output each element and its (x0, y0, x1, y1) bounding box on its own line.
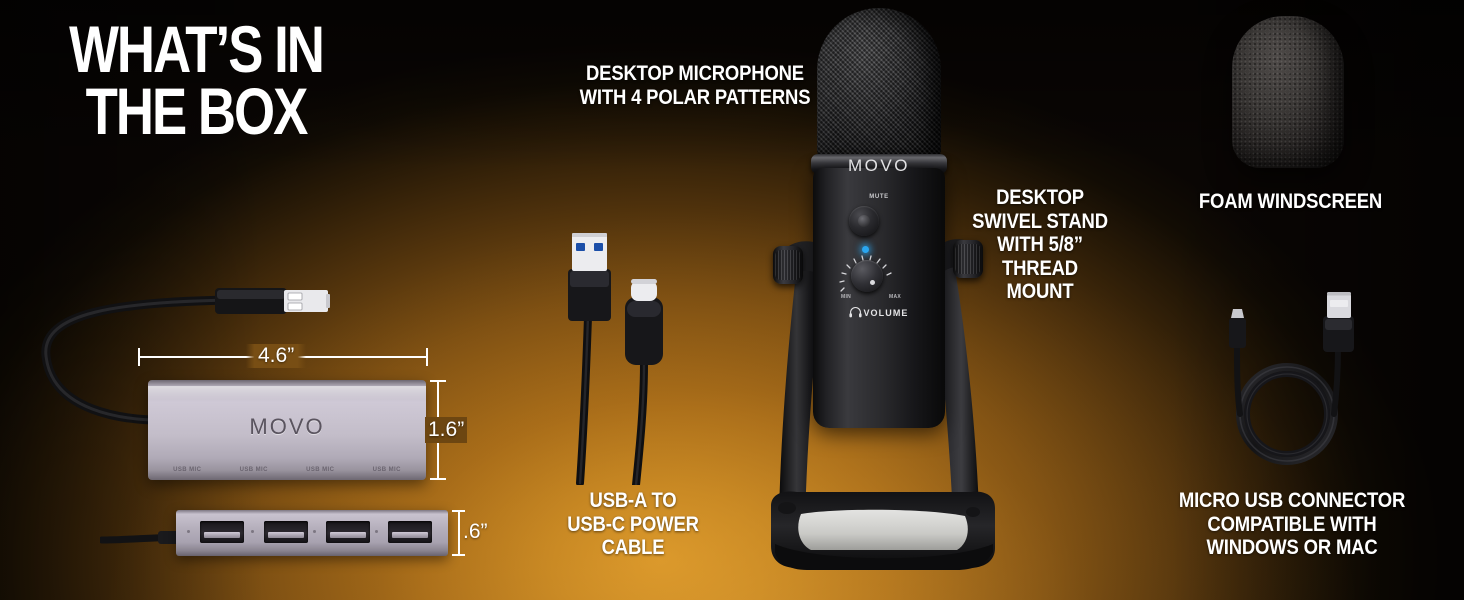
dim-height-cap-bottom (430, 478, 446, 480)
infographic-canvas: WHAT’S IN THE BOX 4.6” MOVO USB MIC USB … (0, 0, 1464, 600)
dim-width-cap-left (138, 348, 140, 366)
dim-depth-value: .6” (463, 520, 488, 544)
volume-label: VOLUME (827, 308, 945, 318)
label-foam-windscreen: FOAM WINDSCREEN (1174, 190, 1407, 214)
dim-height-value: 1.6” (425, 417, 467, 443)
hub-port-label: USB MIC (306, 467, 334, 473)
label-swivel-stand: DESKTOP SWIVEL STAND WITH 5/8” THREAD MO… (965, 186, 1115, 304)
dim-width-value: 4.6” (246, 344, 306, 368)
micro-usb-cable-graphic (1195, 290, 1385, 475)
usb-port[interactable] (326, 521, 370, 543)
stand-tension-knob-left[interactable] (773, 246, 803, 284)
mute-label: MUTE (813, 194, 945, 200)
port-led-dot (187, 530, 190, 533)
dim-width-cap-right (426, 348, 428, 366)
volume-min-label: MIN (841, 294, 851, 300)
hub-port-label: USB MIC (373, 467, 401, 473)
microphone-grille (817, 8, 941, 160)
dim-depth-cap-bottom (452, 554, 465, 556)
label-desktop-microphone: DESKTOP MICROPHONE WITH 4 POLAR PATTERNS (576, 62, 814, 109)
port-led-dot (313, 530, 316, 533)
microphone-body: MOVO MUTE MIN MA (813, 168, 945, 428)
usb-hub-front-edge (176, 510, 448, 556)
hub-port-label-row: USB MIC USB MIC USB MIC USB MIC (154, 467, 420, 473)
page-title: WHAT’S IN THE BOX (36, 18, 356, 142)
port-led-dot (375, 530, 378, 533)
title-line-1: WHAT’S IN (36, 18, 356, 80)
microphone-brand-logo: MOVO (813, 156, 945, 176)
hub-brand-logo: MOVO (148, 414, 426, 440)
hub-port-label: USB MIC (173, 467, 201, 473)
usb-hub-product: 4.6” MOVO USB MIC USB MIC USB MIC USB MI… (0, 260, 500, 590)
usb-port[interactable] (200, 521, 244, 543)
volume-knob[interactable] (851, 260, 883, 292)
usb-port[interactable] (388, 521, 432, 543)
dim-depth-bar (458, 510, 460, 556)
hub-port-label: USB MIC (240, 467, 268, 473)
hub-edge-cable (100, 524, 186, 550)
title-line-2: THE BOX (36, 80, 356, 142)
mute-button[interactable] (849, 206, 879, 236)
usb-hub-body: MOVO USB MIC USB MIC USB MIC USB MIC (148, 380, 426, 480)
hub-highlight (148, 386, 426, 400)
usb-port[interactable] (264, 521, 308, 543)
foam-windscreen-graphic (1232, 16, 1344, 168)
volume-max-label: MAX (889, 294, 901, 300)
port-led-dot (251, 530, 254, 533)
label-usb-a-to-usb-c-cable: USB-A TO USB-C POWER CABLE (549, 489, 716, 560)
label-micro-usb-connector: MICRO USB CONNECTOR COMPATIBLE WITH WIND… (1169, 489, 1415, 560)
usb-a-to-usb-c-cable-graphic (540, 225, 740, 485)
